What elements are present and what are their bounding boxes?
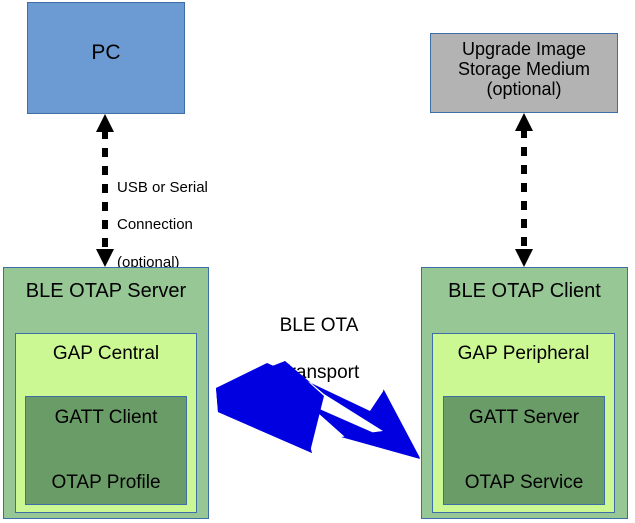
node-storage-medium-line1: Upgrade Image xyxy=(431,39,617,59)
connector-ble-ota-line1: BLE OTA xyxy=(244,314,394,337)
node-gatt-server-label: GATT Server xyxy=(444,407,604,429)
node-gatt-client-group: GATT Client OTAP Profile xyxy=(25,396,187,505)
node-gatt-client-label: GATT Client xyxy=(26,407,186,429)
node-storage-medium-line2: Storage Medium xyxy=(431,59,617,79)
node-pc-label: PC xyxy=(91,41,120,65)
node-otap-profile-label: OTAP Profile xyxy=(26,472,186,494)
node-gap-peripheral-label: GAP Peripheral xyxy=(458,343,590,364)
lightning-bolt-arrow-icon xyxy=(212,352,422,464)
arrowhead-down-icon xyxy=(515,249,533,267)
node-gap-central-label: GAP Central xyxy=(53,343,159,364)
connector-usb-serial-line2: Connection xyxy=(117,216,227,235)
connector-usb-serial xyxy=(95,114,115,267)
arrowhead-down-icon xyxy=(96,249,114,267)
node-storage-medium-line3: (optional) xyxy=(431,79,617,99)
node-pc: PC xyxy=(27,2,185,114)
node-otap-client-label: BLE OTAP Client xyxy=(448,280,601,302)
connector-stem xyxy=(521,129,527,251)
connector-stem xyxy=(102,130,108,251)
node-storage-medium: Upgrade Image Storage Medium (optional) xyxy=(430,33,618,113)
node-otap-service-label: OTAP Service xyxy=(444,472,604,494)
node-gatt-server-group: GATT Server OTAP Service xyxy=(443,396,605,505)
diagram-canvas: PC Upgrade Image Storage Medium (optiona… xyxy=(0,0,635,523)
node-otap-server-label: BLE OTAP Server xyxy=(26,280,186,302)
connector-storage-link xyxy=(514,113,534,267)
connector-usb-serial-line1: USB or Serial xyxy=(117,179,227,198)
